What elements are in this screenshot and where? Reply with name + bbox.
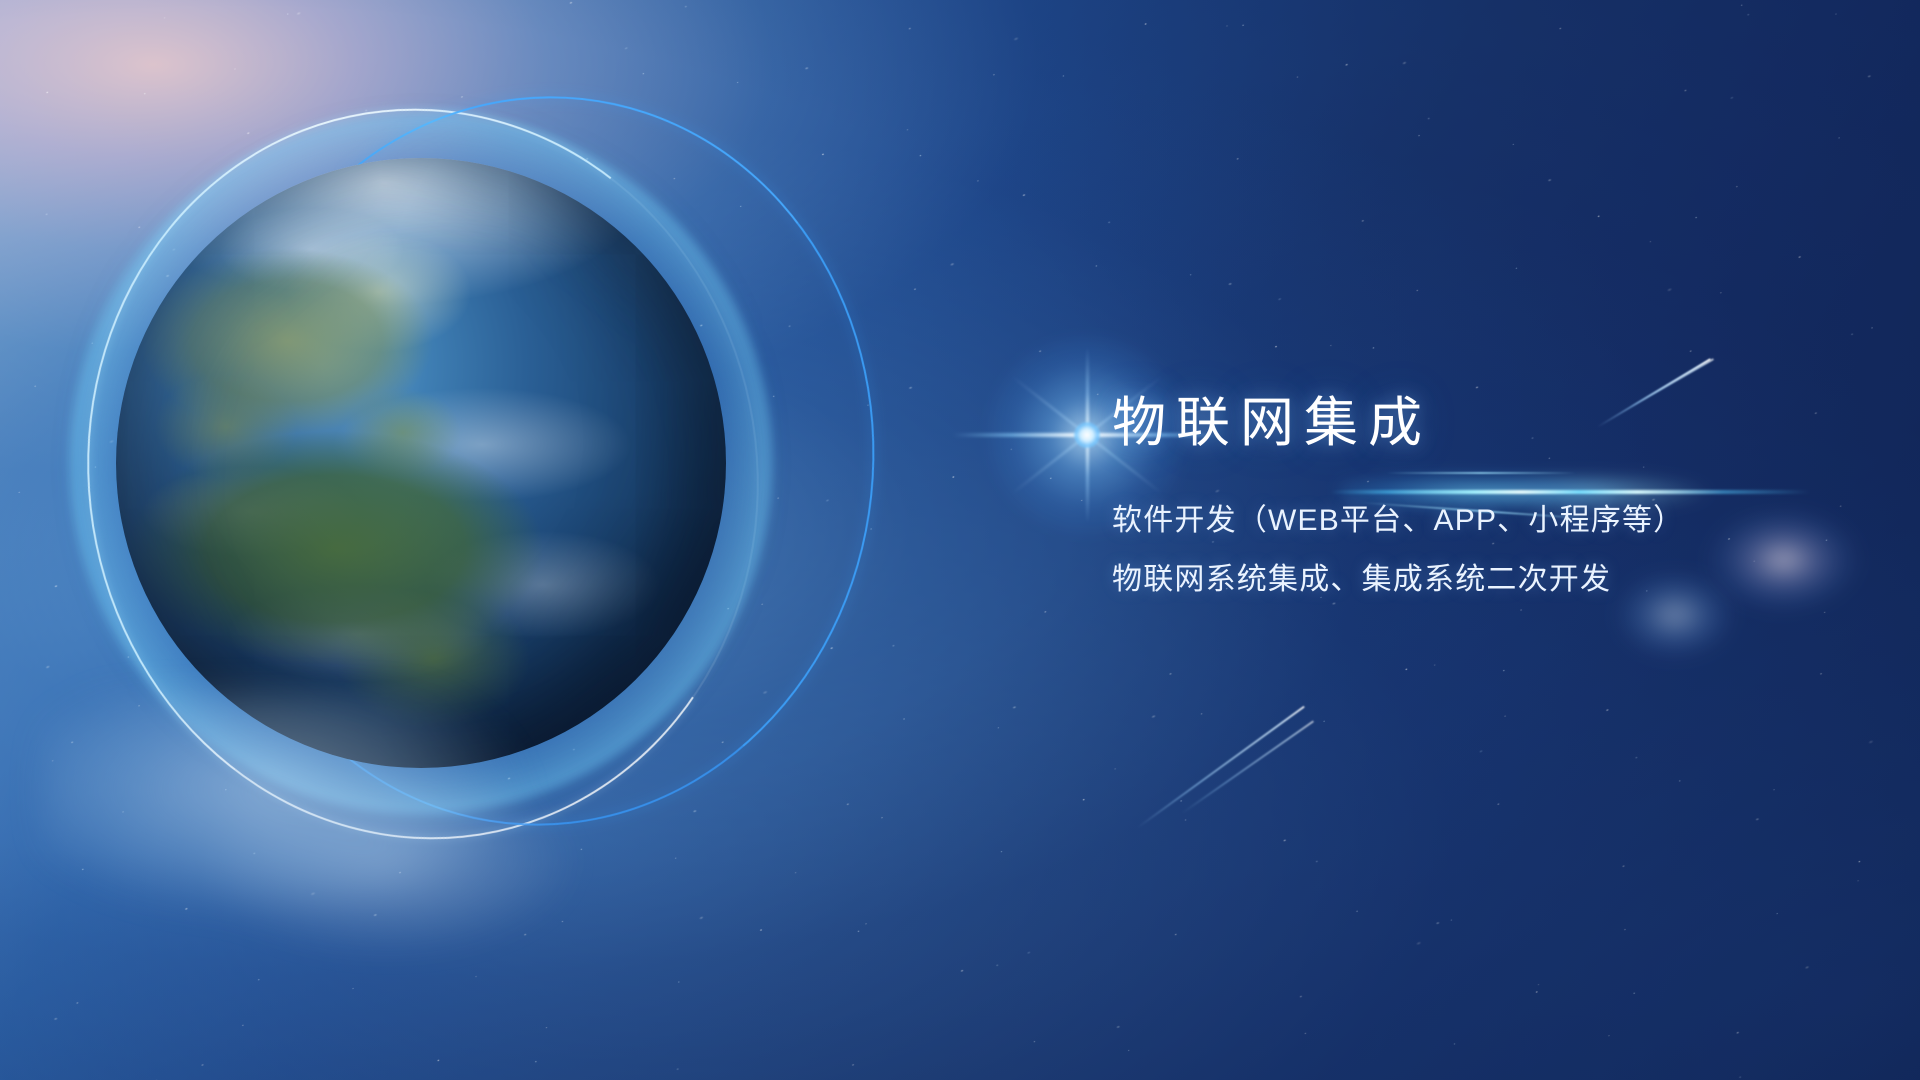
banner-stage: 物联网集成 软件开发（WEB平台、APP、小程序等） 物联网系统集成、集成系统二… xyxy=(0,0,1920,1080)
meteor-lower-center-1 xyxy=(1137,706,1305,829)
globe-mist-reflection xyxy=(40,690,600,1020)
globe-limb-highlight xyxy=(116,158,726,768)
banner-subtitle-2: 物联网系统集成、集成系统二次开发 xyxy=(1112,565,1872,595)
banner-copy: 物联网集成 软件开发（WEB平台、APP、小程序等） 物联网系统集成、集成系统二… xyxy=(1112,396,1872,595)
star-flare-vertical-ray xyxy=(1086,347,1089,523)
banner-subtitle-1: 软件开发（WEB平台、APP、小程序等） xyxy=(1112,506,1872,536)
star-flare-core xyxy=(1074,422,1100,448)
banner-headline: 物联网集成 xyxy=(1112,396,1872,450)
meteor-lower-center-2 xyxy=(1182,720,1314,813)
earth-globe xyxy=(116,158,726,768)
